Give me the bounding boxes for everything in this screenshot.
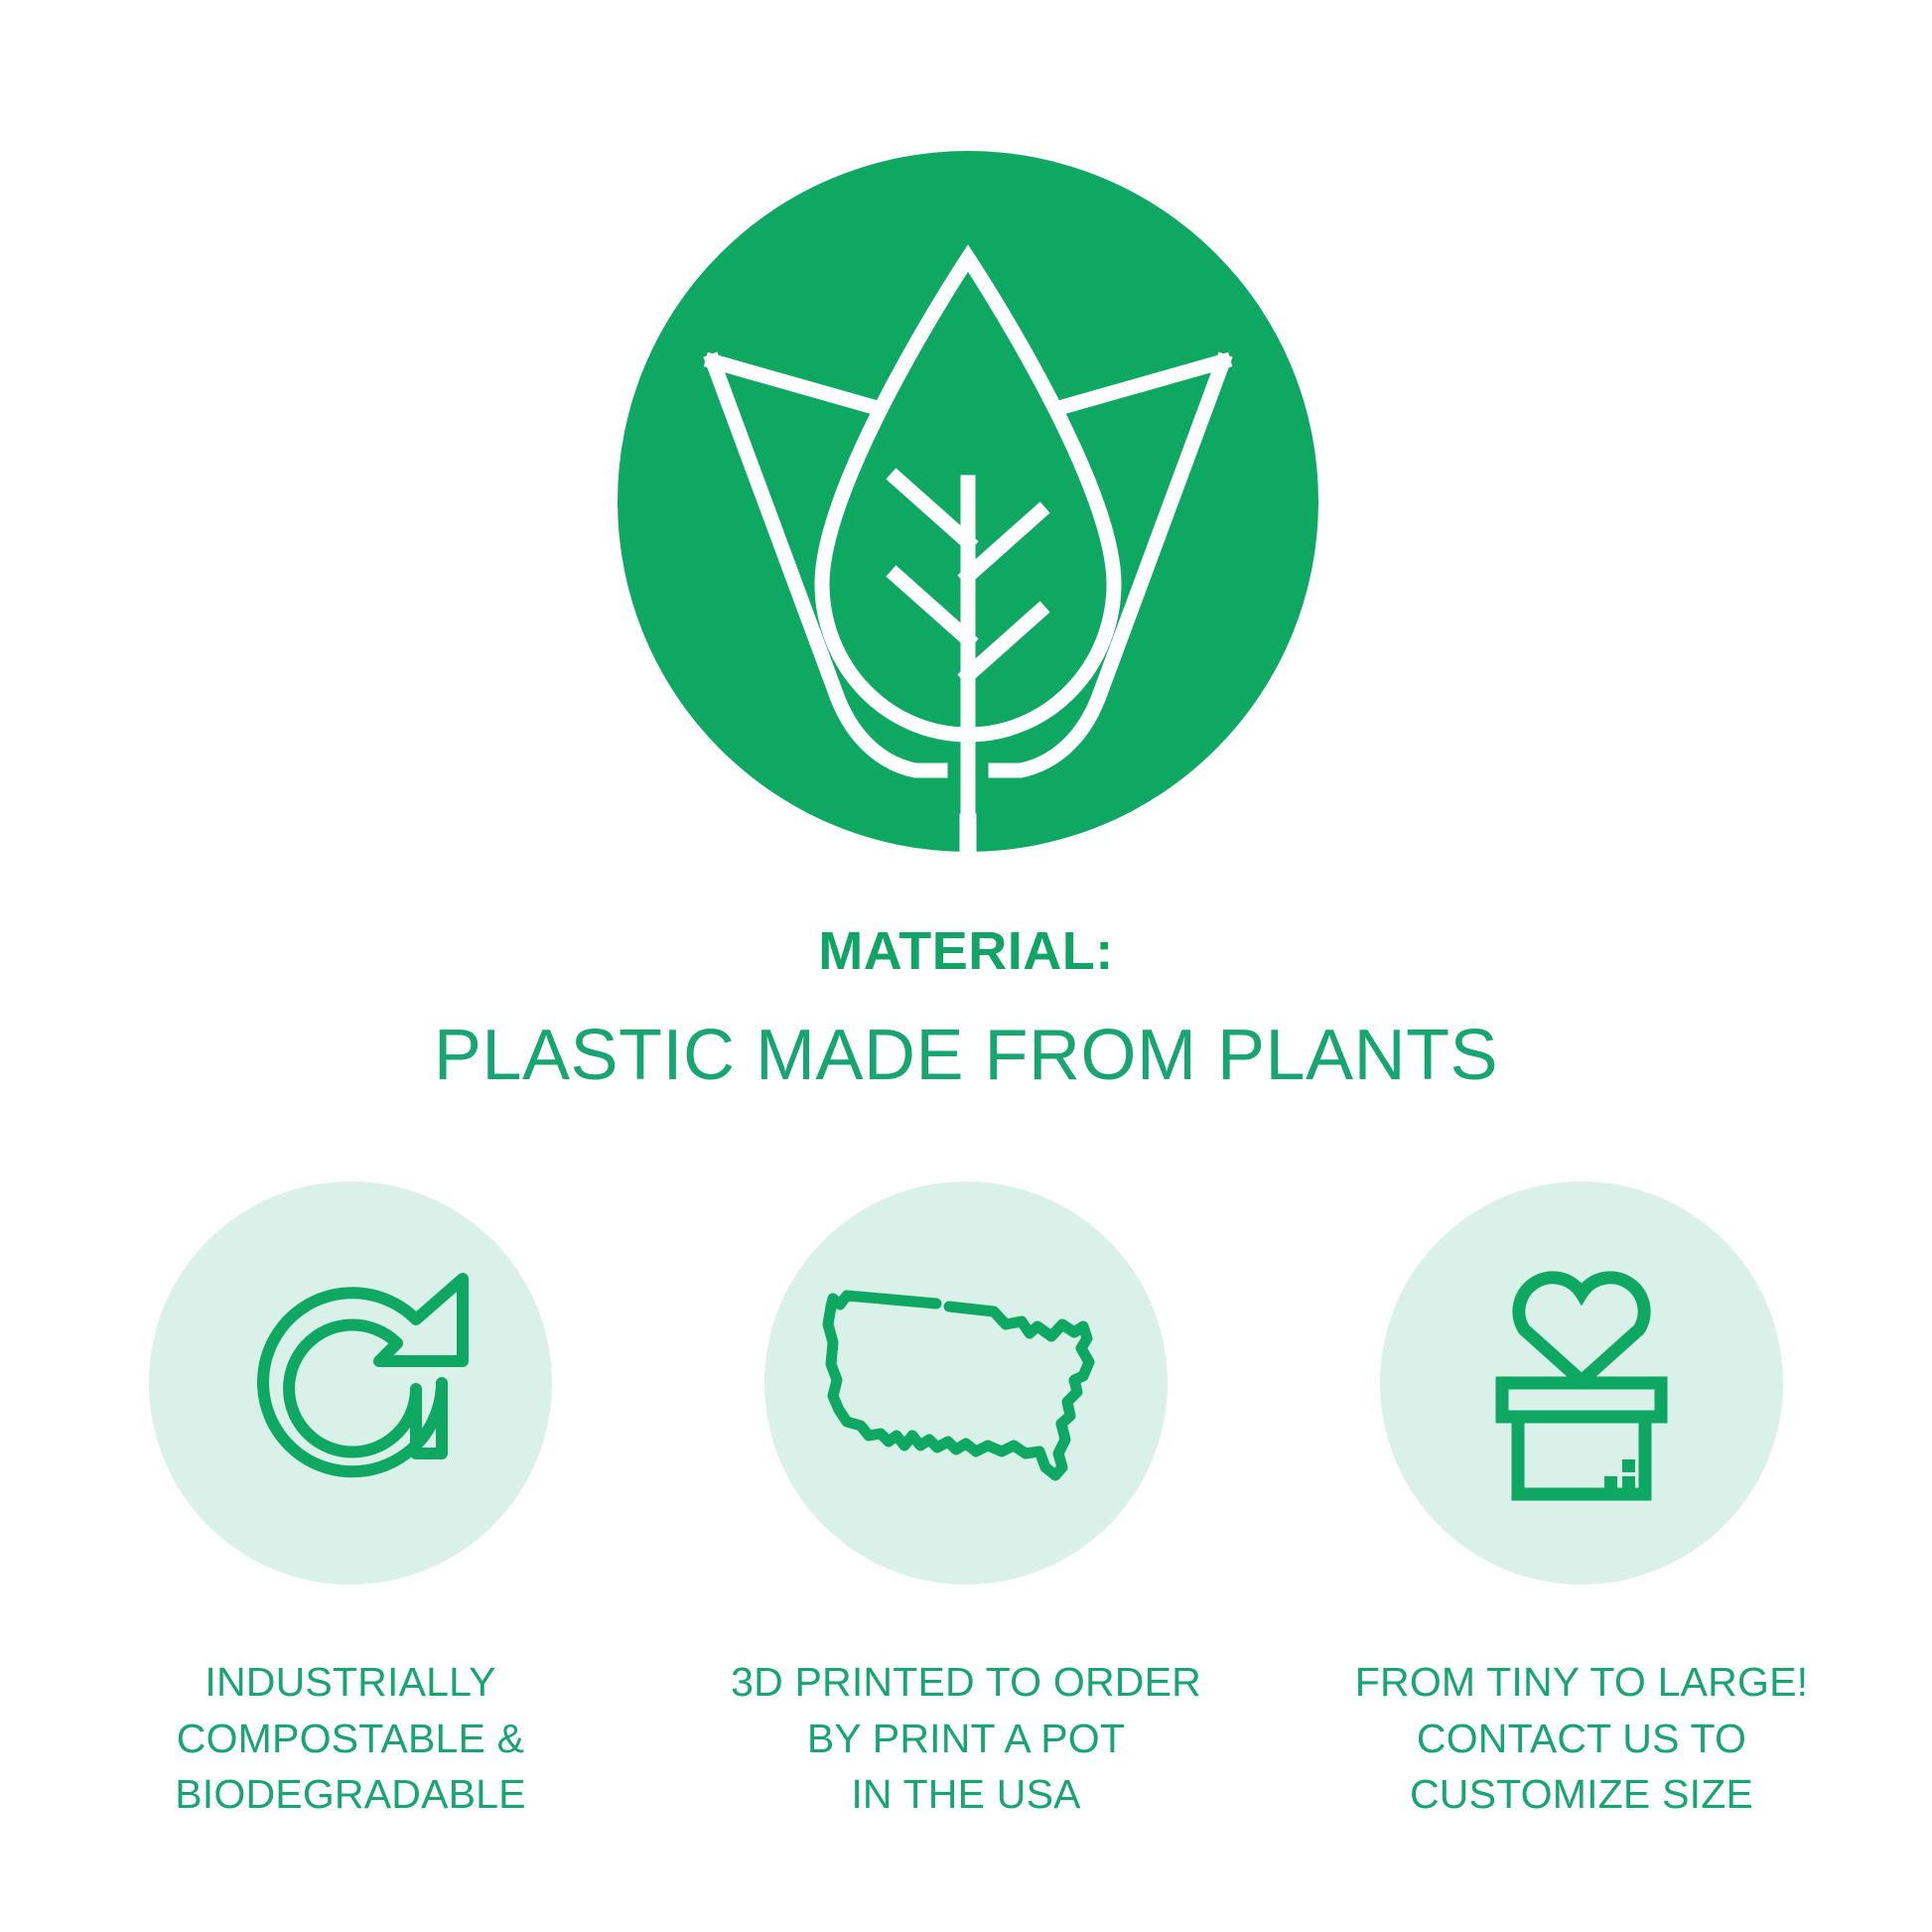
page-title: MATERIAL: — [0, 920, 1932, 982]
usa-map-icon — [817, 1277, 1115, 1490]
feature-item-compostable: INDUSTRIALLY COMPOSTABLE & BIODEGRADABLE — [43, 1181, 658, 1823]
circular-arrow-recycle-icon — [221, 1259, 480, 1507]
feature-caption-compostable: INDUSTRIALLY COMPOSTABLE & BIODEGRADABLE — [175, 1654, 525, 1823]
hero-section: MATERIAL: PLASTIC MADE FROM PLANTS — [0, 0, 1932, 1072]
heart-in-pot-icon — [1477, 1254, 1686, 1512]
feature-row: INDUSTRIALLY COMPOSTABLE & BIODEGRADABLE — [0, 1181, 1932, 1876]
hero-badge-circle — [618, 151, 1318, 852]
feature-item-made-in-usa: 3D PRINTED TO ORDER BY PRINT A POT IN TH… — [658, 1181, 1274, 1823]
plant-leaf-icon — [618, 151, 1318, 852]
page-subtitle: PLASTIC MADE FROM PLANTS — [0, 1015, 1932, 1096]
feature-caption-made-in-usa: 3D PRINTED TO ORDER BY PRINT A POT IN TH… — [731, 1654, 1201, 1823]
feature-badge-circle-custom-size — [1380, 1181, 1783, 1585]
infographic-page: MATERIAL: PLASTIC MADE FROM PLANTS INDUS… — [0, 0, 1932, 1932]
feature-caption-custom-size: FROM TINY TO LARGE! CONTACT US TO CUSTOM… — [1355, 1654, 1808, 1823]
feature-badge-circle-usa — [764, 1181, 1168, 1585]
feature-badge-circle-compostable — [149, 1181, 552, 1585]
feature-item-custom-size: FROM TINY TO LARGE! CONTACT US TO CUSTOM… — [1274, 1181, 1889, 1823]
